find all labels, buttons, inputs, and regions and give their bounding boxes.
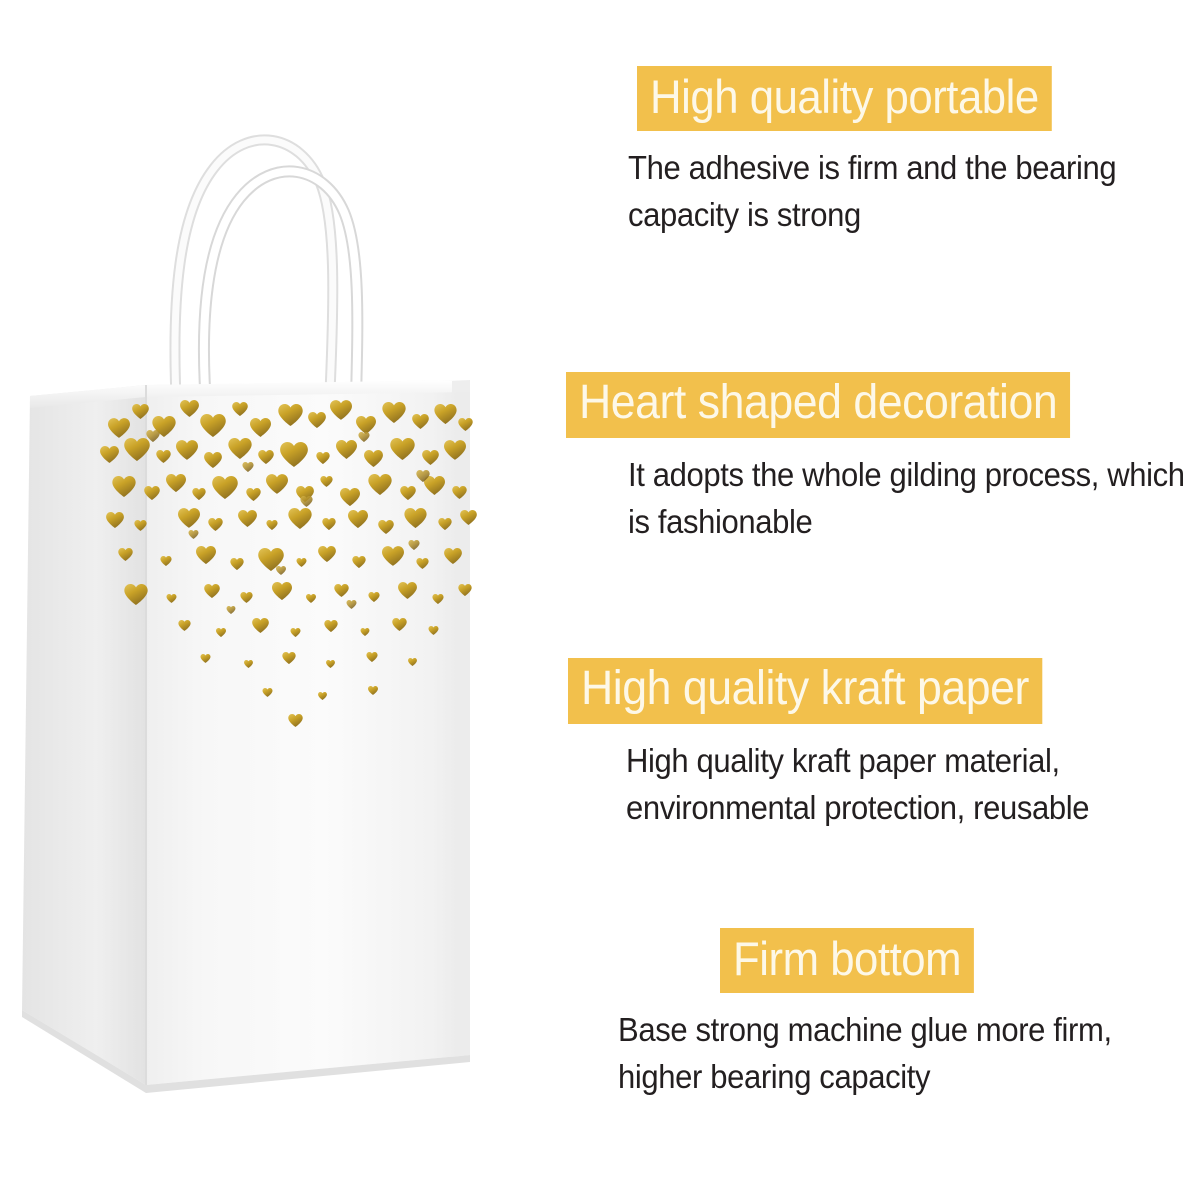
product-image (0, 0, 520, 1200)
feature-heading-high-quality-kraft-paper: High quality kraft paper (568, 658, 1042, 724)
feature-list: High quality portable The adhesive is fi… (520, 0, 1200, 1200)
feature-body-high-quality-portable: The adhesive is firm and the bearing cap… (628, 145, 1200, 239)
feature-heading-firm-bottom: Firm bottom (720, 928, 974, 993)
feature-body-firm-bottom: Base strong machine glue more firm, high… (618, 1007, 1200, 1101)
feature-body-high-quality-kraft-paper: High quality kraft paper material, envir… (626, 738, 1200, 832)
feature-body-heart-shaped-decoration: It adopts the whole gilding process, whi… (628, 452, 1200, 546)
feature-block-high-quality-portable: High quality portable The adhesive is fi… (637, 66, 1200, 239)
feature-block-heart-shaped-decoration: Heart shaped decoration It adopts the wh… (566, 372, 1200, 546)
bag-front-face (146, 380, 470, 1085)
feature-block-firm-bottom: Firm bottom Base strong machine glue mor… (720, 928, 1200, 1101)
feature-heading-high-quality-portable: High quality portable (637, 66, 1052, 131)
feature-block-high-quality-kraft-paper: High quality kraft paper High quality kr… (568, 658, 1200, 832)
bag-right-shadow (452, 380, 470, 1057)
paper-bag-illustration (0, 0, 520, 1200)
product-infographic-page: High quality portable The adhesive is fi… (0, 0, 1200, 1200)
feature-heading-heart-shaped-decoration: Heart shaped decoration (566, 372, 1070, 438)
